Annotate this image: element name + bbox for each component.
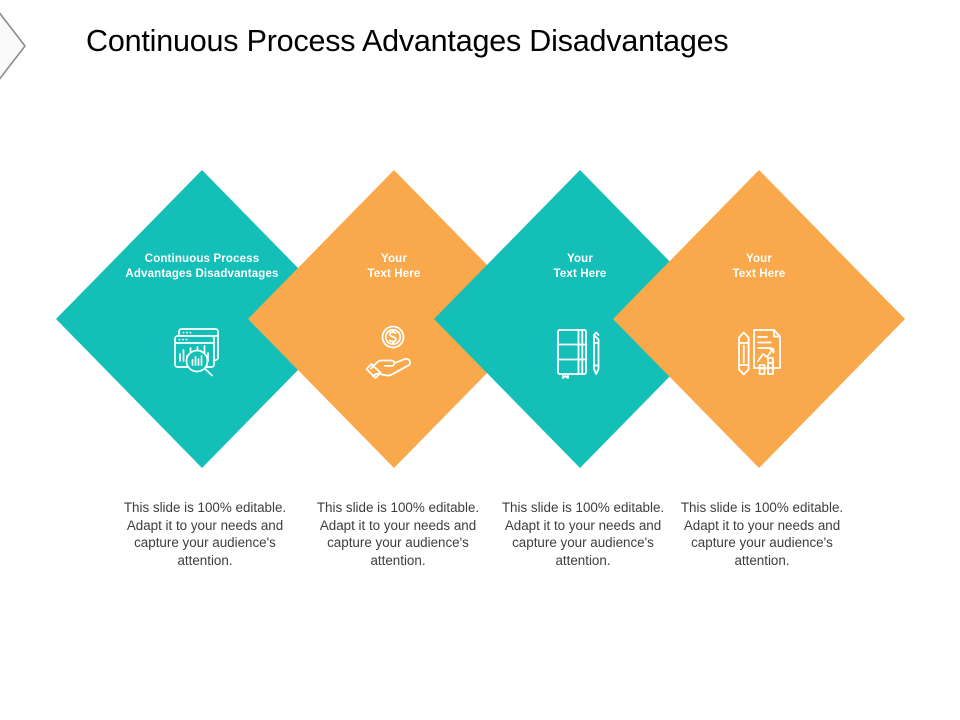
caption-4: This slide is 100% editable. Adapt it to… — [669, 499, 855, 569]
caption-row: This slide is 100% editable. Adapt it to… — [0, 495, 960, 605]
caption-1: This slide is 100% editable. Adapt it to… — [112, 499, 298, 569]
slide-canvas: Continuous Process Advantages Disadvanta… — [0, 0, 960, 720]
caption-3: This slide is 100% editable. Adapt it to… — [490, 499, 676, 569]
diamond-heading-4-line2: Text Here — [613, 267, 905, 282]
diamond-node-4[interactable]: Your Text Here — [613, 170, 905, 468]
diamond-row: Continuous Process Advantages Disadvanta… — [0, 0, 960, 500]
diamond-heading-4: Your Text Here — [613, 252, 905, 281]
dashboard-analytics-search-icon — [166, 320, 238, 392]
diamond-heading-4-line1: Your — [613, 252, 905, 267]
notebook-pencil-icon — [544, 320, 616, 392]
hand-holding-coin-icon — [358, 320, 430, 392]
pencil-report-chart-icon — [723, 318, 795, 390]
caption-2: This slide is 100% editable. Adapt it to… — [305, 499, 491, 569]
